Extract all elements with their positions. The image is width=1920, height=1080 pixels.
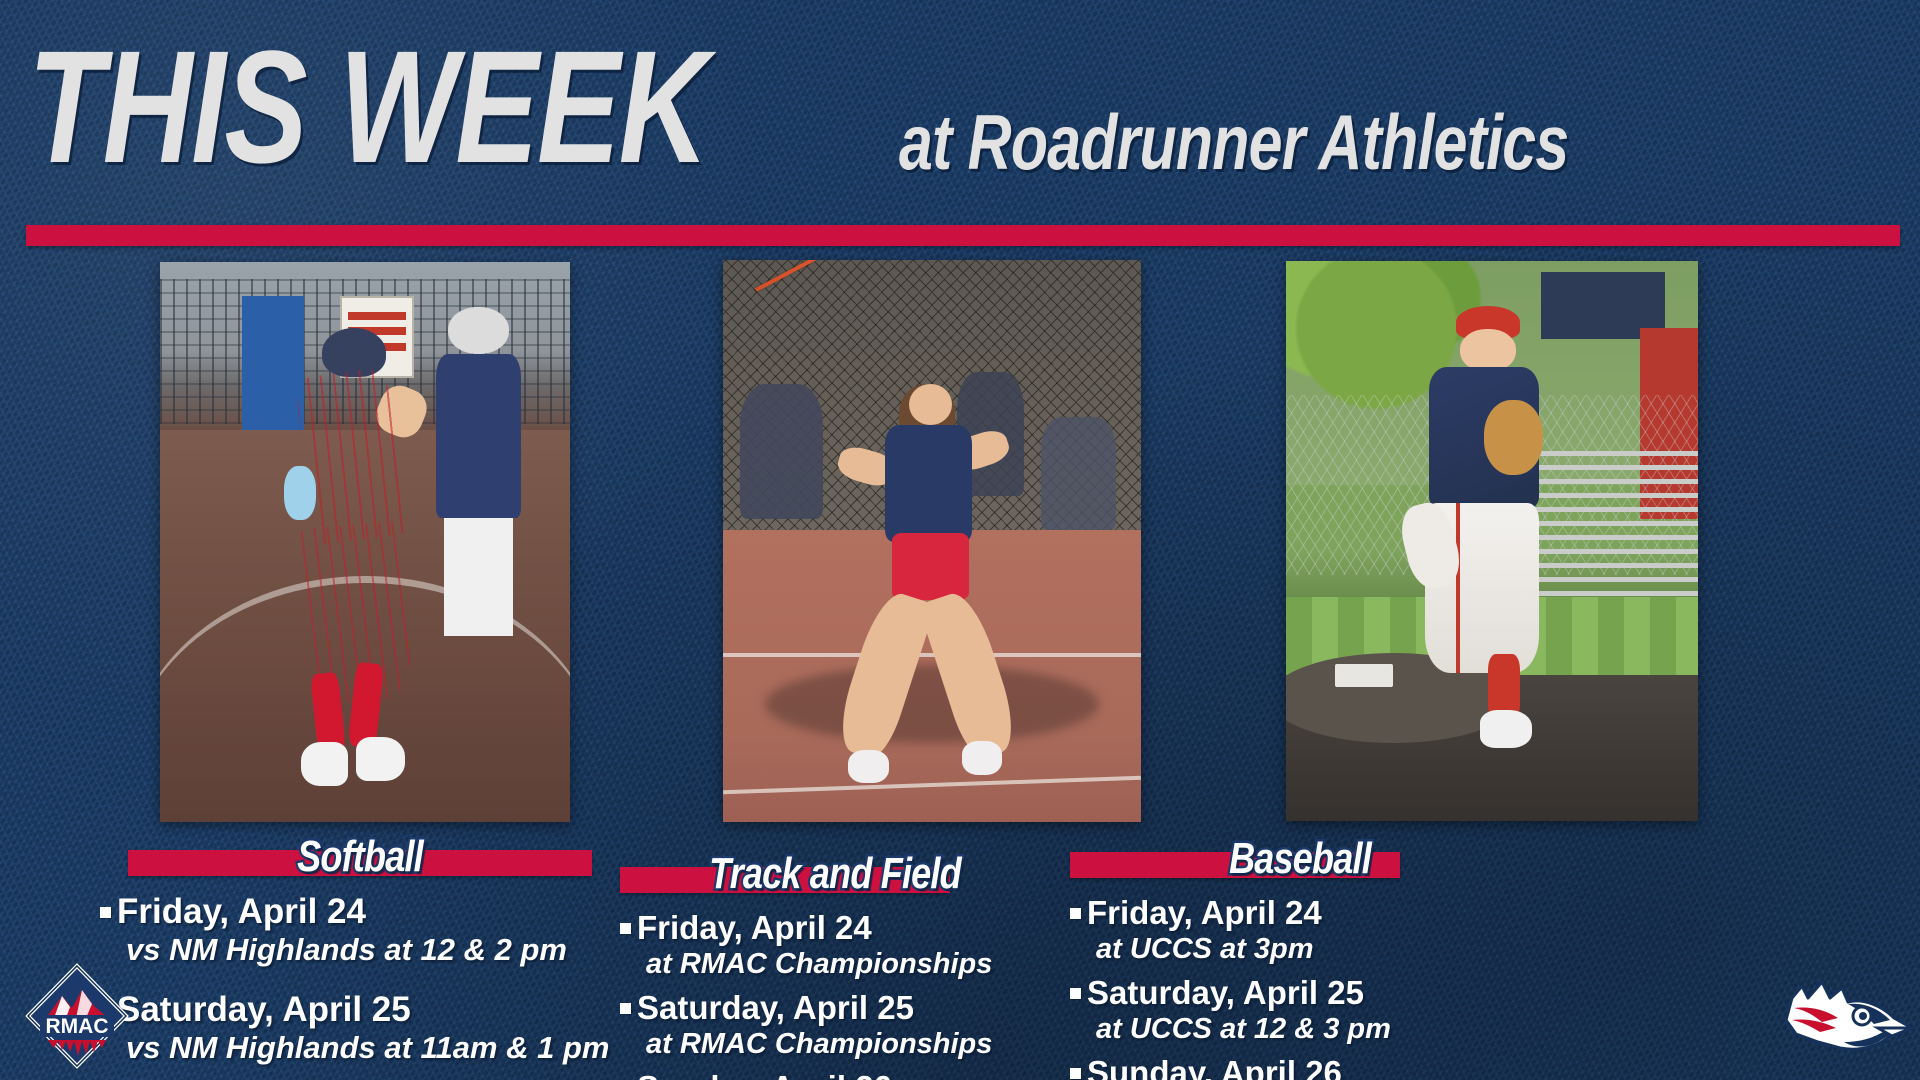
- event-date: Saturday, April 25: [1070, 974, 1530, 1012]
- list-item: Sunday, April 26 at UCCS at 12 pm: [1070, 1054, 1530, 1080]
- event-list-softball: Friday, April 24 vs NM Highlands at 12 &…: [100, 892, 620, 1066]
- section-softball: Softball Friday, April 24 vs NM Highland…: [100, 838, 620, 1080]
- page-title: THIS WEEK: [28, 32, 707, 182]
- rmac-logo-text: RMAC: [46, 1015, 109, 1038]
- photo-baseball: [1286, 261, 1698, 821]
- list-item: Saturday, April 25 at UCCS at 12 & 3 pm: [1070, 974, 1530, 1046]
- event-date: Friday, April 24: [620, 909, 1050, 947]
- bullet-icon: [1070, 1068, 1081, 1079]
- section-baseball: Baseball Friday, April 24 at UCCS at 3pm…: [1070, 840, 1530, 1080]
- list-item: Friday, April 24 at RMAC Championships: [620, 909, 1050, 981]
- section-header-baseball: Baseball: [1070, 840, 1530, 886]
- event-detail: vs NM Highlands at 12 & 2 pm: [100, 932, 620, 968]
- section-track-and-field: Track and Field Friday, April 24 at RMAC…: [620, 855, 1050, 1080]
- page-subtitle: at Roadrunner Athletics: [899, 102, 1568, 182]
- event-date-text: Friday, April 24: [117, 892, 366, 932]
- section-title-softball: Softball: [147, 834, 573, 880]
- graphic-canvas: THIS WEEK at Roadrunner Athletics: [0, 0, 1920, 1080]
- list-item: Saturday, April 25 at RMAC Championships: [620, 989, 1050, 1061]
- bullet-icon: [1070, 988, 1081, 999]
- event-date-text: Sunday, April 26: [637, 1069, 892, 1080]
- section-title-track-and-field: Track and Field: [659, 851, 1012, 897]
- event-date-text: Friday, April 24: [1087, 894, 1322, 932]
- bullet-icon: [620, 923, 631, 934]
- header: THIS WEEK at Roadrunner Athletics: [28, 22, 1548, 182]
- header-divider-rule: [26, 225, 1900, 246]
- event-date-text: Sunday, April 26: [1087, 1054, 1342, 1080]
- event-date-text: Saturday, April 25: [117, 990, 411, 1030]
- event-detail: at UCCS at 3pm: [1070, 932, 1530, 966]
- event-detail: at RMAC Championships: [620, 947, 1050, 981]
- rmac-logo: RMAC: [22, 962, 132, 1070]
- bullet-icon: [620, 1003, 631, 1014]
- section-title-baseball: Baseball: [1111, 836, 1488, 882]
- bullet-icon: [100, 907, 111, 918]
- event-detail: vs NM Highlands at 11am & 1 pm: [100, 1030, 620, 1066]
- list-item: Sunday, April 26 at RMAC Championships: [620, 1069, 1050, 1080]
- event-date: Sunday, April 26: [620, 1069, 1050, 1080]
- event-list-baseball: Friday, April 24 at UCCS at 3pm Saturday…: [1070, 894, 1530, 1080]
- roadrunner-mascot-logo: [1778, 968, 1916, 1074]
- section-header-track-and-field: Track and Field: [620, 855, 1050, 901]
- photo-softball: [160, 262, 570, 822]
- list-item: Friday, April 24 vs NM Highlands at 12 &…: [100, 892, 620, 968]
- event-date: Saturday, April 25: [100, 990, 620, 1030]
- section-header-softball: Softball: [100, 838, 620, 884]
- event-date: Sunday, April 26: [1070, 1054, 1530, 1080]
- list-item: Friday, April 24 at UCCS at 3pm: [1070, 894, 1530, 966]
- event-date-text: Friday, April 24: [637, 909, 872, 947]
- event-list-track-and-field: Friday, April 24 at RMAC Championships S…: [620, 909, 1050, 1080]
- event-date-text: Saturday, April 25: [1087, 974, 1364, 1012]
- photo-track-and-field: [723, 260, 1141, 822]
- event-detail: at RMAC Championships: [620, 1027, 1050, 1061]
- event-date: Friday, April 24: [100, 892, 620, 932]
- bullet-icon: [1070, 908, 1081, 919]
- event-date: Friday, April 24: [1070, 894, 1530, 932]
- event-date-text: Saturday, April 25: [637, 989, 914, 1027]
- event-date: Saturday, April 25: [620, 989, 1050, 1027]
- event-detail: at UCCS at 12 & 3 pm: [1070, 1012, 1530, 1046]
- list-item: Saturday, April 25 vs NM Highlands at 11…: [100, 990, 620, 1066]
